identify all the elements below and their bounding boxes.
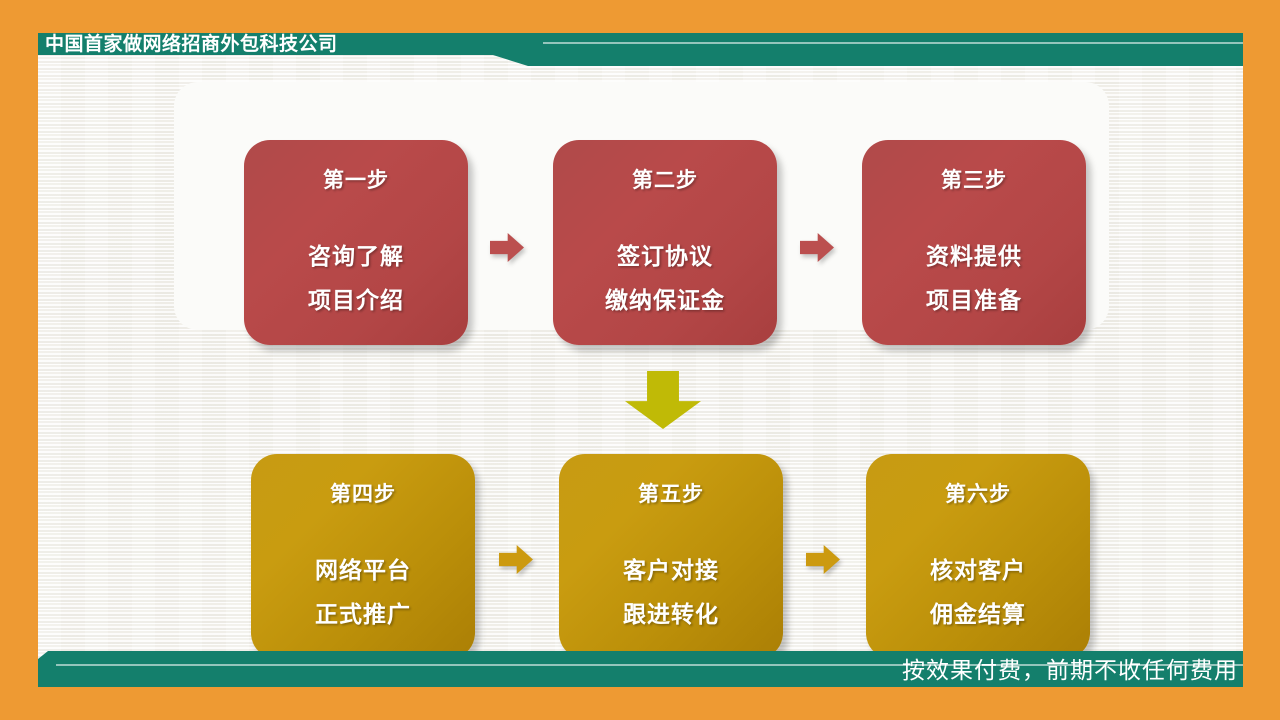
step-card-1-line1: 咨询了解 bbox=[244, 234, 468, 278]
step-card-2-body: 签订协议 缴纳保证金 bbox=[553, 234, 777, 322]
arrow-right-icon-step2-to-step3 bbox=[800, 231, 834, 264]
step-card-4-title: 第四步 bbox=[251, 478, 475, 508]
step-card-3-title: 第三步 bbox=[862, 164, 1086, 194]
step-card-1-line2: 项目介绍 bbox=[244, 278, 468, 322]
step-card-6[interactable]: 第六步 核对客户 佣金结算 bbox=[866, 454, 1090, 659]
arrow-right-icon-step4-to-step5 bbox=[499, 543, 533, 576]
step-card-6-title: 第六步 bbox=[866, 478, 1090, 508]
step-card-3-body: 资料提供 项目准备 bbox=[862, 234, 1086, 322]
step-card-4-line1: 网络平台 bbox=[251, 548, 475, 592]
step-card-5[interactable]: 第五步 客户对接 跟进转化 bbox=[559, 454, 783, 659]
step-card-1-body: 咨询了解 项目介绍 bbox=[244, 234, 468, 322]
step-card-3-line2: 项目准备 bbox=[862, 278, 1086, 322]
step-card-5-line1: 客户对接 bbox=[559, 548, 783, 592]
slide-root: 中国首家做网络招商外包科技公司 第一步 咨询了解 项目介绍 第二步 签订协议 缴… bbox=[0, 0, 1280, 720]
arrow-right-icon-step1-to-step2 bbox=[490, 231, 524, 264]
step-card-6-line1: 核对客户 bbox=[866, 548, 1090, 592]
step-card-6-line2: 佣金结算 bbox=[866, 592, 1090, 636]
header-band: 中国首家做网络招商外包科技公司 bbox=[38, 33, 1243, 66]
footer-tagline: 按效果付费，前期不收任何费用 bbox=[902, 652, 1238, 687]
step-card-2-line2: 缴纳保证金 bbox=[553, 278, 777, 322]
arrow-right-icon-step5-to-step6 bbox=[806, 543, 840, 576]
step-card-4-body: 网络平台 正式推广 bbox=[251, 548, 475, 636]
step-card-1[interactable]: 第一步 咨询了解 项目介绍 bbox=[244, 140, 468, 345]
header-accent-line bbox=[543, 42, 1243, 44]
step-card-5-body: 客户对接 跟进转化 bbox=[559, 548, 783, 636]
slide-canvas: 中国首家做网络招商外包科技公司 第一步 咨询了解 项目介绍 第二步 签订协议 缴… bbox=[38, 33, 1243, 687]
step-card-5-line2: 跟进转化 bbox=[559, 592, 783, 636]
step-card-5-title: 第五步 bbox=[559, 478, 783, 508]
step-card-6-body: 核对客户 佣金结算 bbox=[866, 548, 1090, 636]
page-title: 中国首家做网络招商外包科技公司 bbox=[45, 33, 338, 55]
step-card-4-line2: 正式推广 bbox=[251, 592, 475, 636]
step-card-4[interactable]: 第四步 网络平台 正式推广 bbox=[251, 454, 475, 659]
step-card-3-line1: 资料提供 bbox=[862, 234, 1086, 278]
step-card-2[interactable]: 第二步 签订协议 缴纳保证金 bbox=[553, 140, 777, 345]
arrow-down-icon-row1-to-row2 bbox=[625, 371, 701, 429]
step-card-2-title: 第二步 bbox=[553, 164, 777, 194]
step-card-2-line1: 签订协议 bbox=[553, 234, 777, 278]
step-card-3[interactable]: 第三步 资料提供 项目准备 bbox=[862, 140, 1086, 345]
step-card-1-title: 第一步 bbox=[244, 164, 468, 194]
